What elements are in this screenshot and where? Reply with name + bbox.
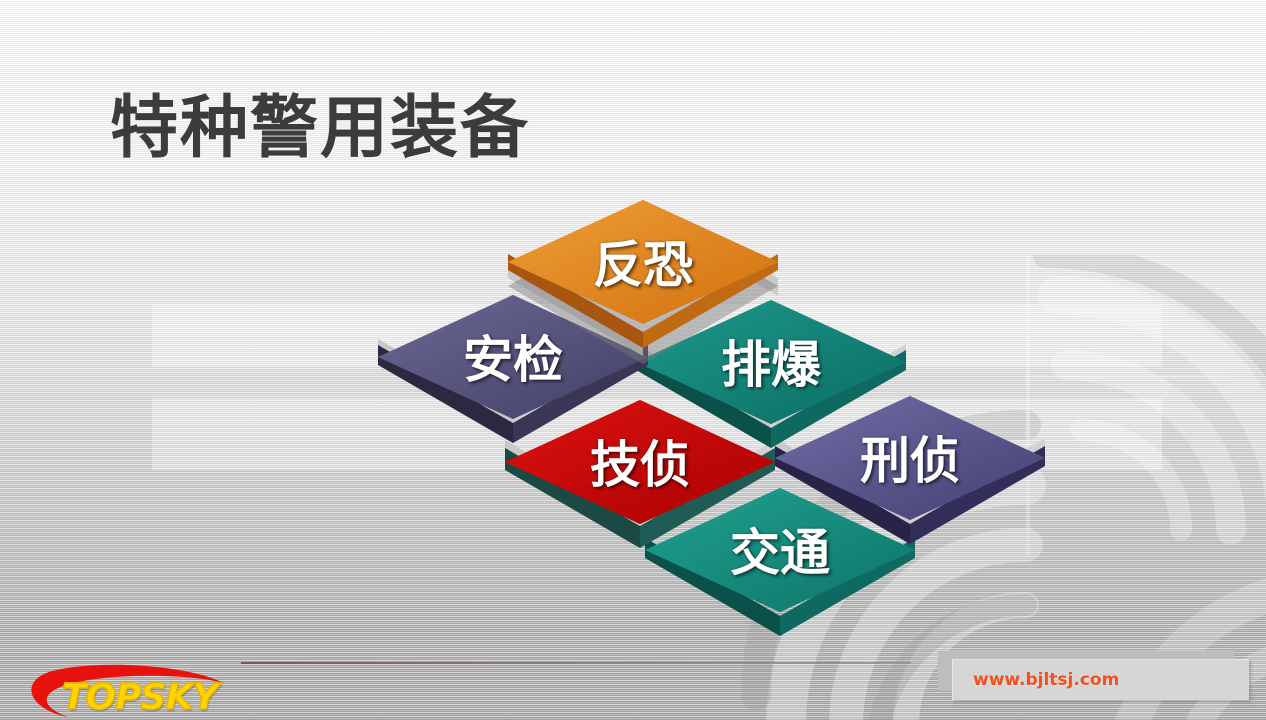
topsky-logo[interactable]: TOPSKY bbox=[10, 663, 250, 720]
footer-divider-line bbox=[241, 662, 911, 664]
website-url-text: www.bjltsj.com bbox=[973, 670, 1119, 690]
slide-canvas: 特种警用装备 反恐 bbox=[0, 0, 1266, 720]
logo-wordmark: TOPSKY bbox=[62, 677, 217, 718]
isometric-diagram: 反恐 安检 bbox=[0, 0, 1266, 720]
diagram-block-fankong[interactable]: 反恐 bbox=[508, 200, 778, 340]
website-url-box[interactable]: www.bjltsj.com bbox=[938, 651, 1250, 699]
url-box-plate: www.bjltsj.com bbox=[952, 659, 1249, 700]
